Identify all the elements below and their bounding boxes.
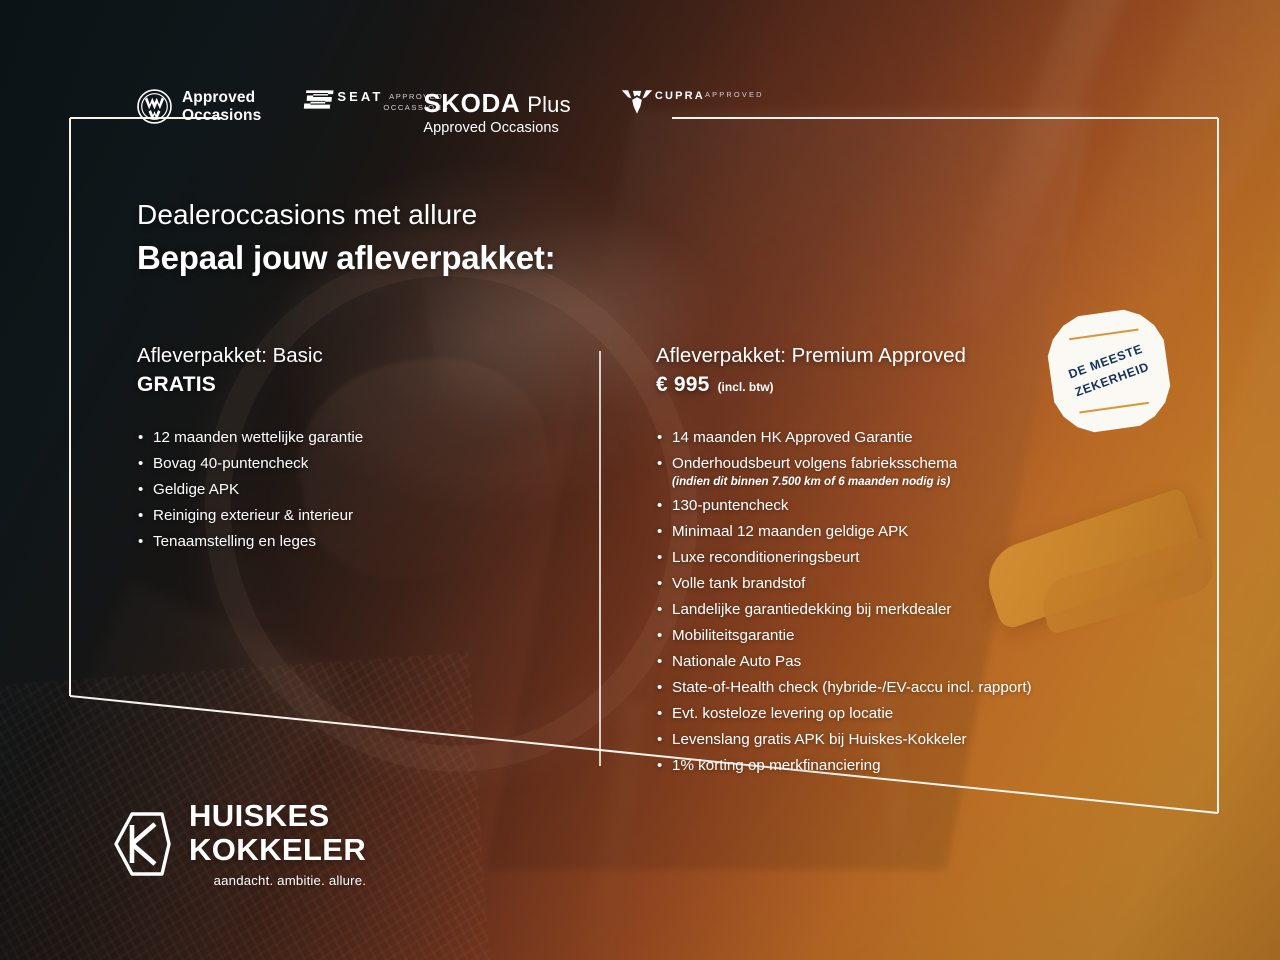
volkswagen-logo-text: Approved Occasions [182,89,261,124]
seat-logo-icon [303,88,337,111]
headline-eyebrow: Dealeroccasions met allure [137,199,555,231]
list-item: Minimaal 12 maanden geldige APK [656,519,1156,545]
skoda-plus-text: Plus [527,92,571,118]
skoda-logo-text: SKODA [423,88,520,119]
headline-block: Dealeroccasions met allure Bepaal jouw a… [137,199,555,277]
cupra-logo-subtext: APPROVED [705,90,764,99]
list-item: Luxe reconditioneringsbeurt [656,545,1156,571]
package-premium-feature-list: 14 maanden HK Approved GarantieOnderhoud… [656,425,1156,779]
list-item: Landelijke garantiedekking bij merkdeale… [656,597,1156,623]
promo-banner: Approved Occasions SEAT APPROVED OCCASSI… [0,0,1280,960]
brand-logo-seat: SEAT APPROVED OCCASSIONS [303,88,381,116]
page-title: Bepaal jouw afleverpakket: [137,239,555,277]
volkswagen-line-1: Approved [182,89,261,106]
brand-logo-skoda: SKODA Plus Approved Occasions [423,88,571,136]
brand-logo-row: Approved Occasions SEAT APPROVED OCCASSI… [136,88,693,154]
status-badge: DE MEESTE ZEKERHEID [1040,302,1178,440]
list-item: Nationale Auto Pas [656,649,1156,675]
cupra-logo-text: CUPRA [655,90,705,102]
brand-logo-volkswagen: Approved Occasions [136,88,261,125]
dealer-logo: HUISKES KOKKELER aandacht. ambitie. allu… [110,800,366,888]
cupra-logo-icon [619,88,655,116]
list-item: Evt. kosteloze levering op locatie [656,701,1156,727]
seat-logo-text: SEAT [337,89,383,104]
list-item: Levenslang gratis APK bij Huiskes-Kokkel… [656,727,1156,753]
list-item: 130-puntencheck [656,493,1156,519]
list-item: Tenaamstelling en leges [137,529,567,555]
dealer-name-line-2: KOKKELER [189,834,366,865]
dealer-name-line-1: HUISKES [189,800,366,831]
package-basic-price: GRATIS [137,373,216,397]
dealer-name: HUISKES KOKKELER [189,800,366,865]
skoda-logo-subtext: Approved Occasions [423,120,571,136]
list-item: Geldige APK [137,477,567,503]
dealer-tagline: aandacht. ambitie. allure. [189,873,366,888]
package-premium-price-note: (incl. btw) [718,380,774,394]
list-item: Volle tank brandstof [656,571,1156,597]
huiskes-kokkeler-hexagon-k-icon [110,811,172,877]
list-item: Mobiliteitsgarantie [656,623,1156,649]
volkswagen-line-2: Occasions [182,107,261,124]
list-item: State-of-Health check (hybride-/EV-accu … [656,675,1156,701]
list-item: 12 maanden wettelijke garantie [137,425,567,451]
volkswagen-logo-icon [136,88,173,125]
package-basic-title: Afleverpakket: Basic [137,344,567,368]
list-item: 1% korting op merkfinanciering [656,753,1156,779]
brand-logo-cupra: CUPRA APPROVED [619,88,693,121]
list-item: Reiniging exterieur & interieur [137,503,567,529]
package-premium-price: € 995 [656,373,710,397]
package-basic-feature-list: 12 maanden wettelijke garantieBovag 40-p… [137,425,567,555]
package-basic: Afleverpakket: Basic GRATIS 12 maanden w… [137,344,567,555]
list-item: Onderhoudsbeurt volgens fabrieksschema [656,451,1156,477]
package-basic-price-row: GRATIS [137,373,567,397]
list-item: Bovag 40-puntencheck [137,451,567,477]
